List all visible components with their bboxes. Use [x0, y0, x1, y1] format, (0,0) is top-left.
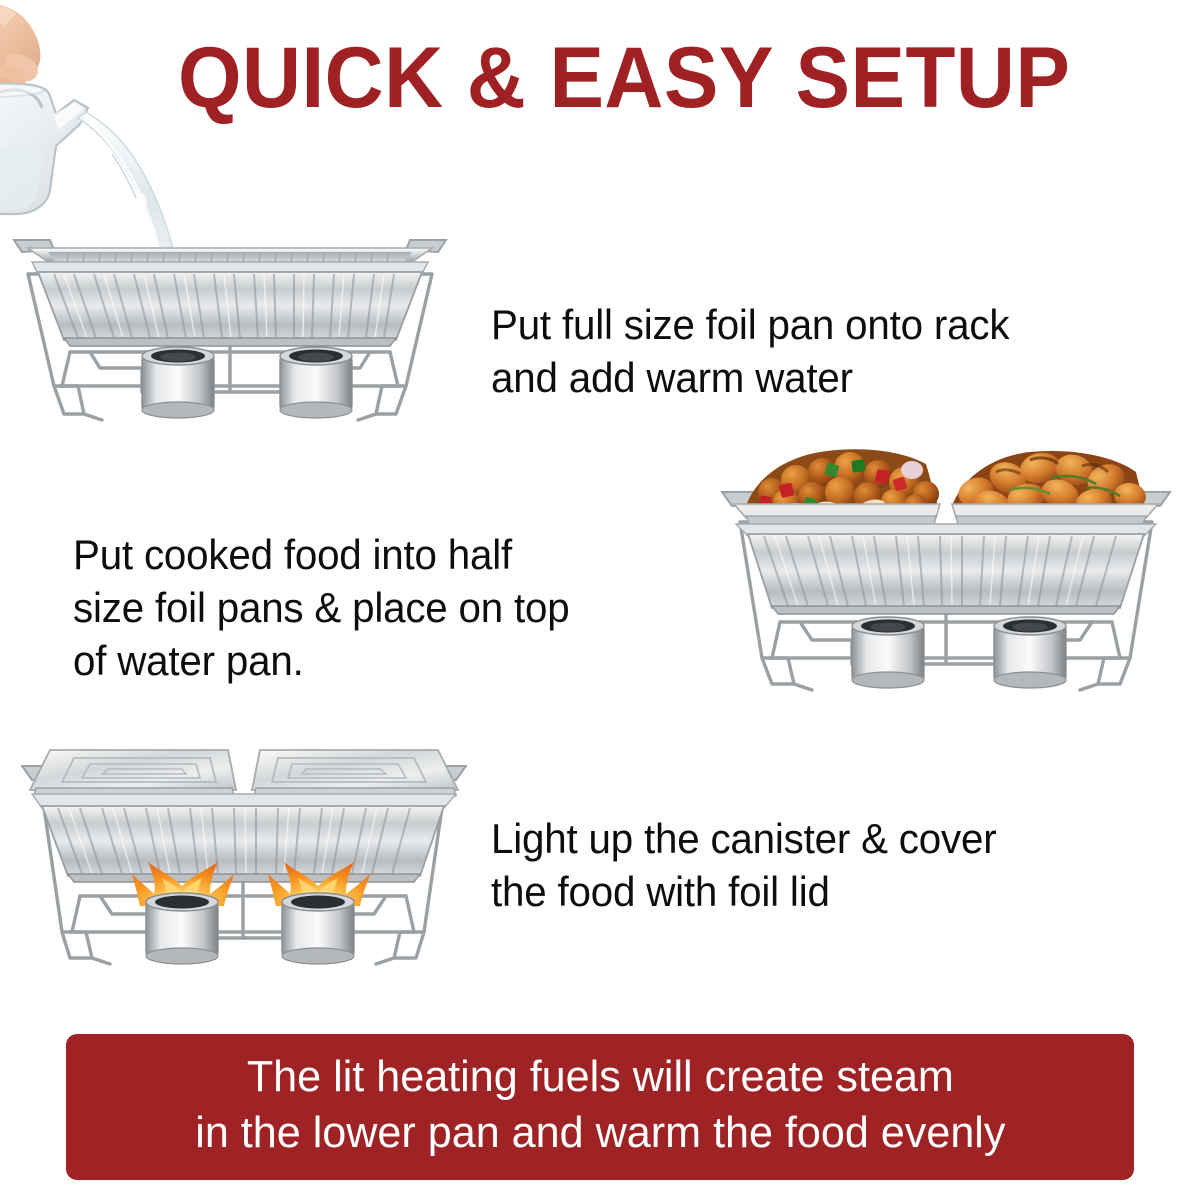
fuel-canister-right: [994, 617, 1066, 688]
fuel-canister-right: [280, 347, 352, 418]
foil-lid-right: [252, 750, 458, 796]
full-size-foil-pan: [14, 240, 446, 346]
lit-canisters-with-foil-lids-illustration: [0, 736, 496, 996]
half-size-foil-pans: [734, 504, 1158, 526]
fuel-canister-right: [282, 893, 354, 964]
glass-pitcher-icon: [0, 83, 88, 214]
fuel-canister-left: [146, 893, 218, 964]
bottom-banner: The lit heating fuels will create steam …: [66, 1034, 1134, 1180]
fuel-canister-left: [852, 617, 924, 688]
full-size-water-pan: [32, 794, 456, 882]
step-1-caption: Put full size foil pan onto rack and add…: [491, 298, 1163, 404]
step-3-caption: Light up the canister & cover the food w…: [491, 812, 1163, 918]
full-size-water-pan: [736, 524, 1156, 614]
hand-icon: [0, 1, 40, 96]
half-pans-with-food-illustration: [700, 444, 1200, 732]
foil-lid-left: [30, 750, 236, 796]
infographic-canvas: QUICK & EASY SETUP Put full size foil pa…: [0, 0, 1200, 1200]
step-2-caption: Put cooked food into half size foil pans…: [73, 528, 668, 687]
fuel-canister-left: [142, 347, 214, 418]
page-title: QUICK & EASY SETUP: [178, 32, 995, 124]
bottom-banner-text: The lit heating fuels will create steam …: [195, 1049, 1005, 1161]
